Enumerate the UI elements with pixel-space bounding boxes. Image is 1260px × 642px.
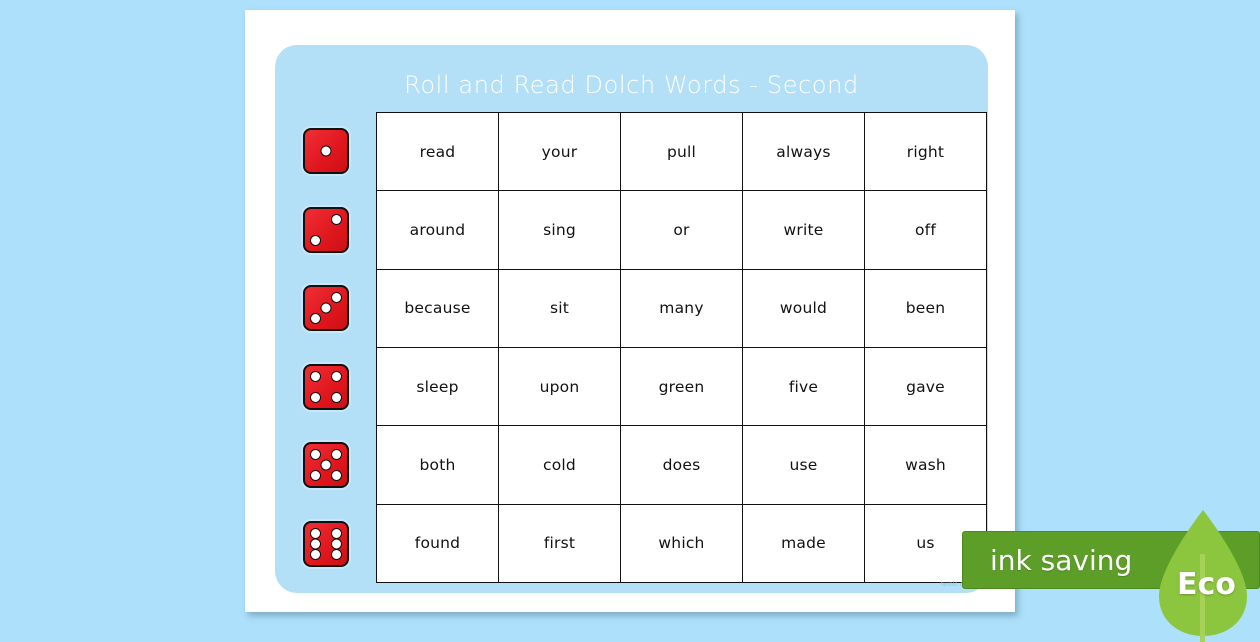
dice-pip-icon [331,538,342,549]
word-cell: right [865,113,987,191]
dice-pip-icon [310,449,321,460]
ink-saving-eco-badge: ink saving Eco [962,531,1260,589]
dice-pip-icon [310,538,321,549]
dice-slot-3 [275,269,376,348]
word-cell: which [621,505,743,583]
word-cell: gave [865,348,987,426]
word-cell: made [743,505,865,583]
word-row: readyourpullalwaysright [377,113,987,191]
printable-page: Roll and Read Dolch Words - Second ready… [245,10,1015,612]
dice-pip-icon [310,528,321,539]
word-cell: green [621,348,743,426]
word-cell: off [865,191,987,269]
word-cell: around [377,191,499,269]
word-cell: wash [865,426,987,504]
dice-slot-6 [275,505,376,584]
word-cell: always [743,113,865,191]
eco-leaf-label: Eco [1177,567,1236,602]
word-cell: would [743,270,865,348]
die-face-3 [303,285,349,331]
dice-pip-icon [331,292,342,303]
word-grid: readyourpullalwaysrightaroundsingorwrite… [376,112,987,583]
dice-pip-icon [331,449,342,460]
word-cell: because [377,270,499,348]
word-cell: does [621,426,743,504]
dice-slot-5 [275,426,376,505]
dice-column [275,112,376,583]
dice-pip-icon [310,371,321,382]
word-cell: write [743,191,865,269]
word-cell: cold [499,426,621,504]
die-face-1 [303,128,349,174]
word-cell: read [377,113,499,191]
dice-pip-icon [331,549,342,560]
word-row: becausesitmanywouldbeen [377,270,987,348]
dice-pip-icon [320,460,331,471]
dice-pip-icon [331,528,342,539]
word-cell: five [743,348,865,426]
dice-pip-icon [320,146,331,157]
word-cell: both [377,426,499,504]
dice-pip-icon [331,214,342,225]
word-cell: sit [499,270,621,348]
word-row: sleepupongreenfivegave [377,348,987,426]
dice-pip-icon [331,392,342,403]
die-face-6 [303,521,349,567]
dice-slot-1 [275,112,376,191]
die-face-4 [303,364,349,410]
dice-pip-icon [310,549,321,560]
dice-slot-4 [275,348,376,427]
word-cell: sing [499,191,621,269]
word-cell: many [621,270,743,348]
word-row: bothcolddoesusewash [377,426,987,504]
word-row: foundfirstwhichmadeus [377,505,987,583]
word-cell: use [743,426,865,504]
dice-pip-icon [331,470,342,481]
dice-slot-2 [275,191,376,270]
worksheet-title: Roll and Read Dolch Words - Second [275,71,988,99]
dice-pip-icon [320,303,331,314]
word-cell: first [499,505,621,583]
dice-pip-icon [310,313,321,324]
word-cell: been [865,270,987,348]
dice-pip-icon [310,235,321,246]
word-cell: or [621,191,743,269]
word-cell: found [377,505,499,583]
worksheet-panel: Roll and Read Dolch Words - Second ready… [275,45,988,593]
die-face-2 [303,207,349,253]
word-cell: pull [621,113,743,191]
dice-pip-icon [310,392,321,403]
die-face-5 [303,442,349,488]
dice-pip-icon [331,371,342,382]
roll-and-read-board: readyourpullalwaysrightaroundsingorwrite… [275,112,988,583]
word-cell: upon [499,348,621,426]
word-row: aroundsingorwriteoff [377,191,987,269]
word-cell: sleep [377,348,499,426]
eco-bar-label: ink saving [990,544,1132,577]
dice-pip-icon [310,470,321,481]
word-cell: your [499,113,621,191]
